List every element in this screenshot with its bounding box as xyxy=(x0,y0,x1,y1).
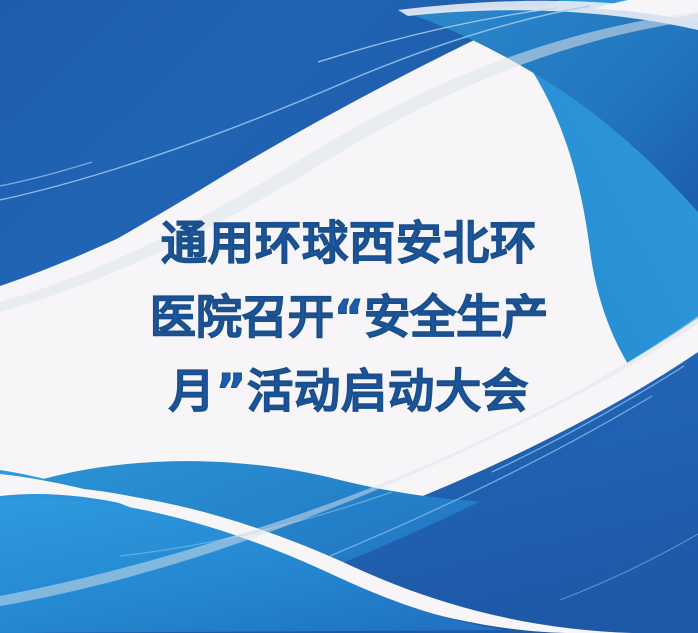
poster-canvas: 通用环球西安北环 医院召开“安全生产 月”活动启动大会 xyxy=(0,0,698,633)
decorative-background xyxy=(0,0,698,633)
